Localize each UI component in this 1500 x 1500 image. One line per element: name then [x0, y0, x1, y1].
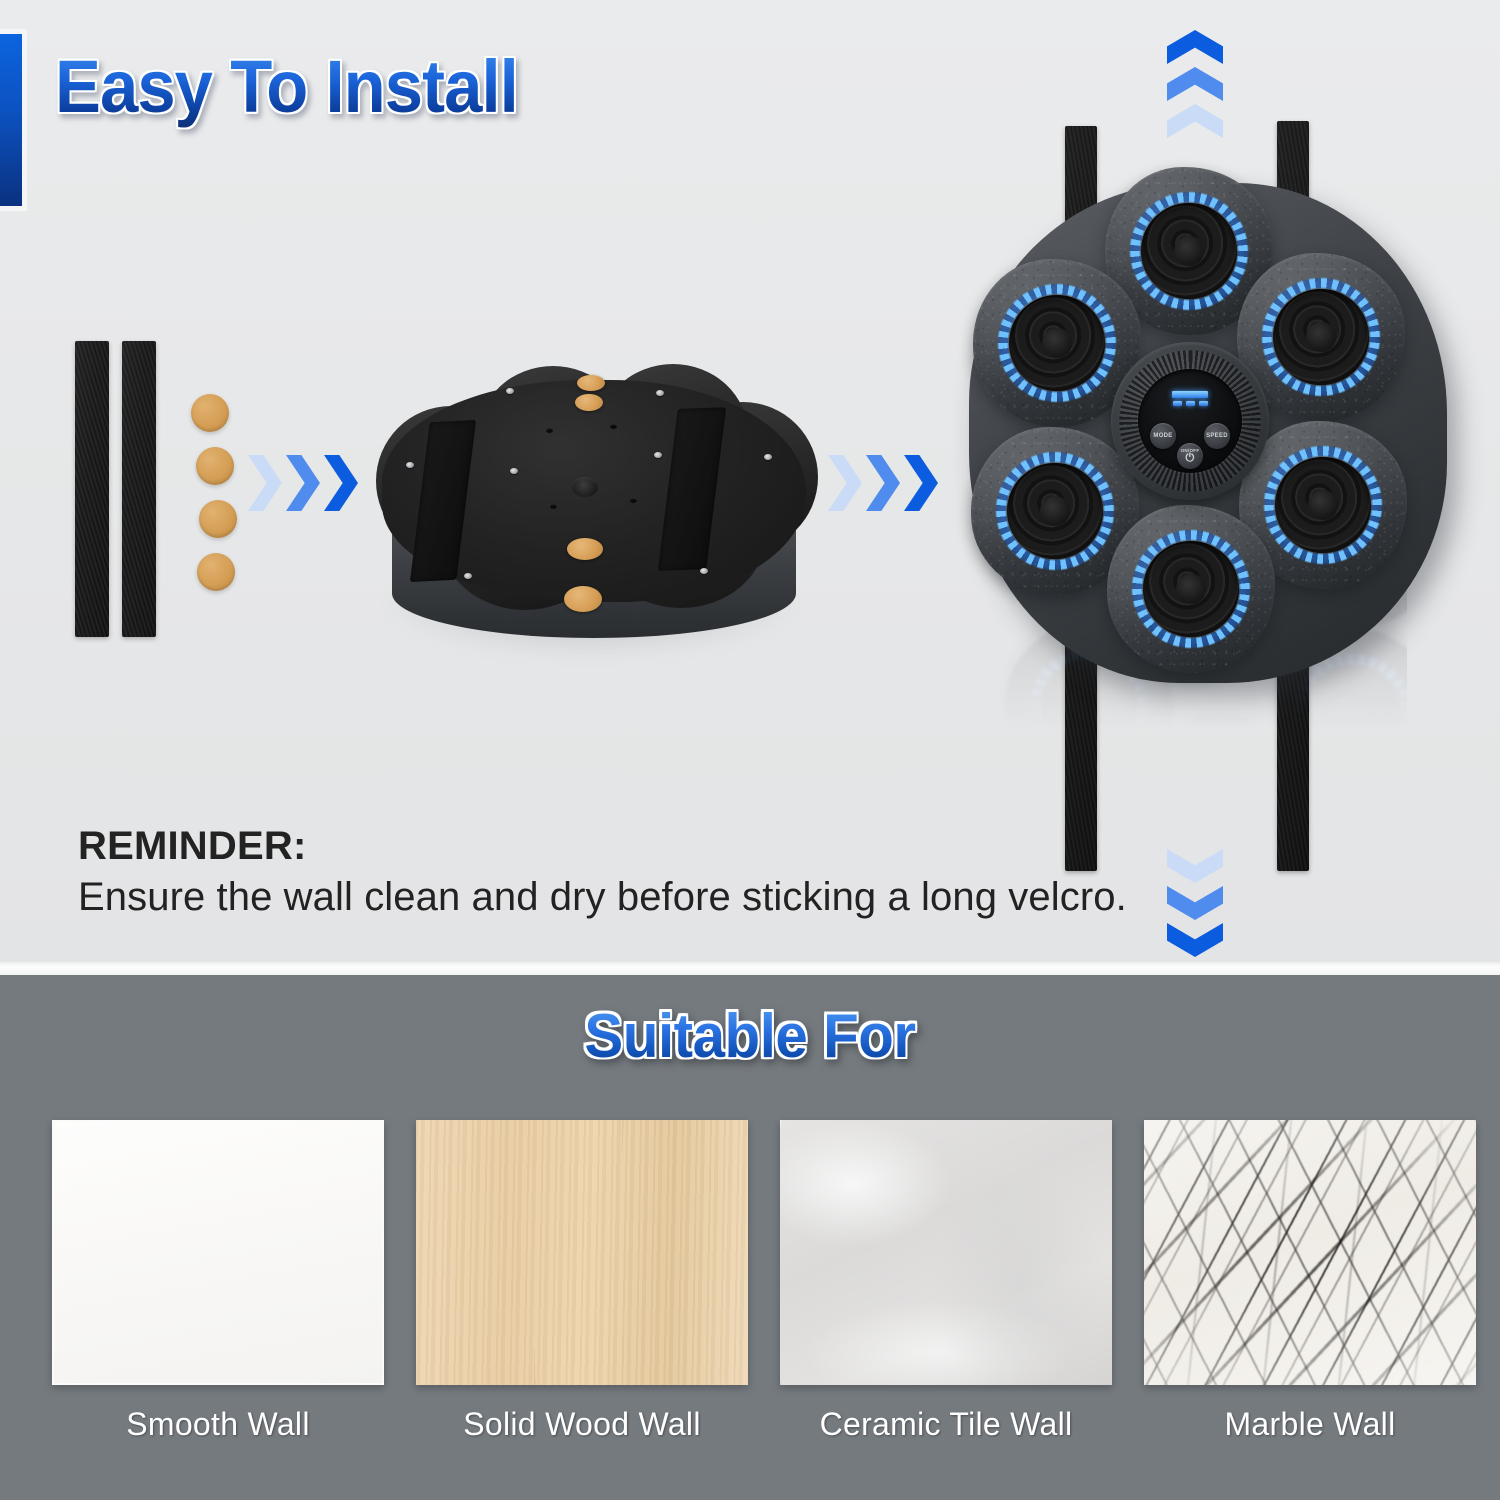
wall-card-smooth: Smooth Wall — [52, 1120, 384, 1443]
mounting-bracket-plate — [368, 358, 820, 658]
led-display — [1172, 391, 1208, 406]
arrow-group-right — [828, 455, 938, 511]
reminder-heading: REMINDER: — [78, 824, 1127, 869]
chevron-right-icon — [828, 455, 862, 511]
machine-body: MODE SPEED ON/OFF ⏻ — [955, 175, 1455, 695]
solid-wood-wall-swatch — [416, 1120, 748, 1385]
power-button[interactable]: ON/OFF ⏻ — [1177, 443, 1203, 469]
display-segment — [1199, 401, 1208, 406]
wall-card-wood: Solid Wood Wall — [416, 1120, 748, 1443]
suitable-for-title: Suitable For — [45, 1001, 1455, 1072]
chevron-down-icon — [1167, 923, 1223, 957]
music-boxing-machine: MODE SPEED ON/OFF ⏻ — [925, 95, 1470, 885]
wall-label: Smooth Wall — [52, 1406, 384, 1443]
chevron-right-icon — [286, 455, 320, 511]
suitable-for-section: Suitable For Smooth Wall Solid Wood Wall… — [0, 975, 1500, 1500]
plate-screw — [700, 568, 708, 574]
marble-wall-swatch — [1144, 1120, 1476, 1385]
display-bar — [1172, 391, 1208, 398]
wall-label: Solid Wood Wall — [416, 1406, 748, 1443]
led-ring — [1261, 277, 1381, 397]
mode-button[interactable]: MODE — [1150, 423, 1176, 449]
adhesive-dot — [191, 394, 229, 432]
chevron-down-icon — [1167, 886, 1223, 920]
speed-button-label: SPEED — [1206, 433, 1228, 439]
wall-card-marble: Marble Wall — [1144, 1120, 1476, 1443]
plate-screw — [656, 390, 664, 396]
adhesive-dot — [199, 500, 237, 538]
velcro-strip-right — [122, 341, 156, 637]
plate-hole — [550, 504, 557, 509]
chevron-right-icon — [324, 455, 358, 511]
plate-adhesive-pad — [575, 394, 603, 411]
plate-adhesive-pad — [564, 586, 602, 612]
wall-label: Marble Wall — [1144, 1406, 1476, 1443]
led-ring — [1263, 445, 1383, 565]
power-icon: ⏻ — [1185, 453, 1194, 464]
speed-button[interactable]: SPEED — [1204, 423, 1230, 449]
plate-adhesive-pad — [577, 375, 605, 391]
reminder-block: REMINDER: Ensure the wall clean and dry … — [78, 824, 1127, 920]
led-ring — [1129, 191, 1249, 311]
machine-front-face: MODE SPEED ON/OFF ⏻ — [955, 175, 1425, 667]
easy-to-install-section: Easy To Install — [0, 0, 1500, 973]
boxing-pad[interactable] — [1107, 505, 1275, 673]
velcro-strip-left — [75, 341, 109, 637]
wall-label: Ceramic Tile Wall — [780, 1406, 1112, 1443]
plate-hole — [610, 424, 617, 429]
control-panel-face: MODE SPEED ON/OFF ⏻ — [1138, 369, 1242, 473]
control-hub: MODE SPEED ON/OFF ⏻ — [1111, 342, 1269, 500]
wall-card-ceramic: Ceramic Tile Wall — [780, 1120, 1112, 1443]
plate-hole — [630, 498, 637, 503]
plate-screw — [764, 454, 772, 460]
plate-screw — [506, 388, 514, 394]
page-title: Easy To Install — [55, 44, 518, 129]
display-segment — [1186, 401, 1195, 406]
plate-screw — [464, 573, 472, 579]
wall-type-grid: Smooth Wall Solid Wood Wall Ceramic Tile… — [52, 1120, 1476, 1443]
plate-screw — [510, 468, 518, 474]
section-divider — [0, 962, 1500, 975]
plate-body — [368, 358, 820, 626]
chevron-right-icon — [248, 455, 282, 511]
smooth-wall-swatch — [52, 1120, 384, 1385]
chevron-up-icon — [1167, 30, 1223, 64]
title-accent-bar — [0, 34, 22, 206]
display-segments — [1173, 401, 1208, 406]
arrow-group-left — [248, 455, 358, 511]
plate-center-boss — [572, 477, 598, 497]
display-segment — [1173, 401, 1182, 406]
plate-adhesive-pad — [567, 538, 603, 560]
adhesive-dot — [196, 447, 234, 485]
led-ring — [995, 451, 1115, 571]
plate-hole — [546, 428, 553, 433]
plate-screw — [654, 452, 662, 458]
led-ring — [1131, 529, 1251, 649]
plate-screw — [406, 462, 414, 468]
led-ring — [997, 283, 1117, 403]
chevron-right-icon — [866, 455, 900, 511]
reminder-text: Ensure the wall clean and dry before sti… — [78, 875, 1127, 920]
ceramic-tile-wall-swatch — [780, 1120, 1112, 1385]
adhesive-dot — [197, 553, 235, 591]
mode-button-label: MODE — [1153, 433, 1172, 439]
